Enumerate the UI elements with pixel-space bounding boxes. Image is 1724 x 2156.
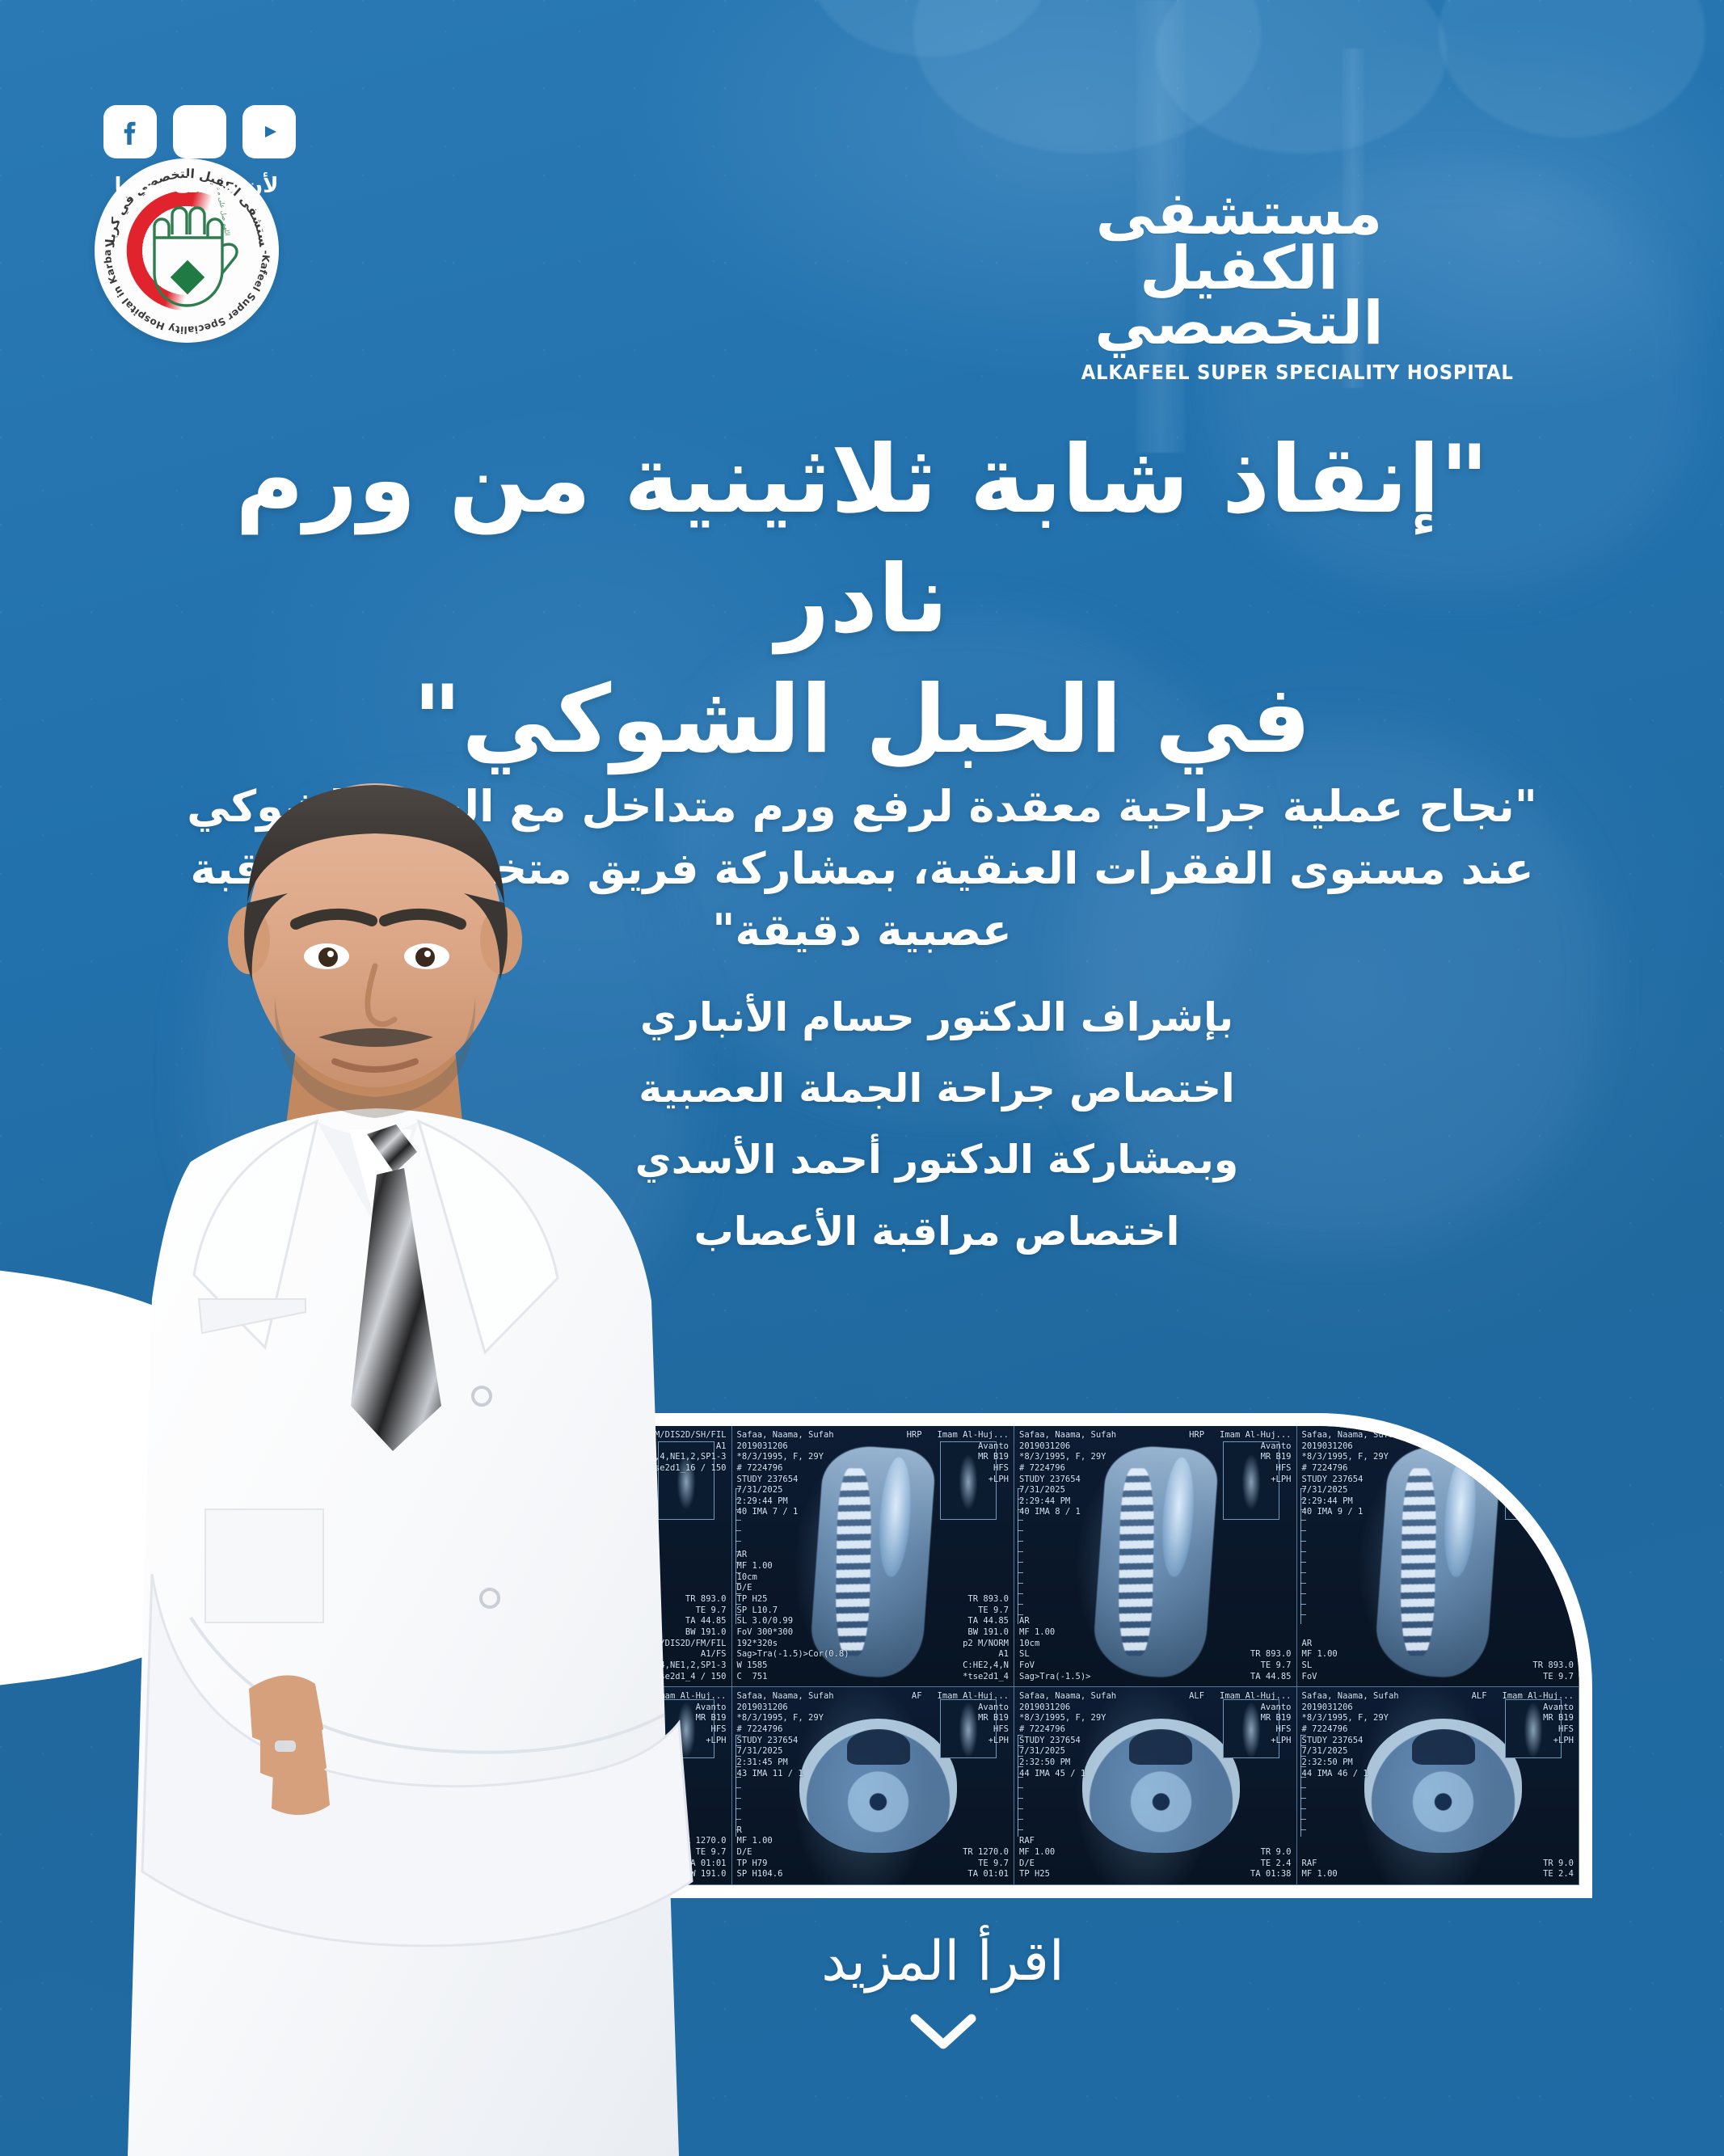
mri-text-top-right: ALF Imam Al-Huj... Avanto MR B19 HFS +LP… — [1472, 1691, 1574, 1746]
mri-slice-cell: Safaa, Naama, Sufah 2019031206 *8/3/1995… — [732, 1426, 1015, 1687]
mri-slice-cell: Safaa, Naama, Sufah 2019031206 *8/3/1995… — [1014, 1687, 1297, 1885]
mri-text-bottom-left: RAF MF 1.00 D/E TP H25 — [1019, 1836, 1055, 1880]
youtube-icon[interactable] — [242, 105, 296, 158]
facebook-icon[interactable] — [103, 105, 157, 158]
instagram-icon[interactable] — [173, 105, 226, 158]
hospital-wordmark: مستشفى الكفيل التخصصي ALKAFEEL SUPER SPE… — [1069, 186, 1409, 384]
read-more-cta[interactable]: اقرأ المزيد — [0, 1932, 1724, 2051]
mri-text-bottom-left: AR MF 1.00 10cm D/E TP H25 SP L10.7 SL 3… — [737, 1550, 849, 1682]
mri-text-bottom-right: TR 1270.0 TE 9.7 TA 01:01 — [963, 1847, 1009, 1880]
mri-slice-cell: Safaa, Naama, Sufah 2019031206 *8/3/1995… — [1297, 1687, 1580, 1885]
mri-text-bottom-left: RAF MF 1.00 — [1302, 1859, 1338, 1880]
mri-slice-cell: Safaa, Naama, Sufah 2019031206 *8/3/1995… — [732, 1687, 1015, 1885]
logo-hand-icon: اللهم صل على محمد — [127, 188, 247, 314]
mri-text-bottom-right: TR 893.0 TE 9.7 TA 44.85 — [1250, 1649, 1292, 1682]
mri-text-bottom-right: TR 893.0 TE 9.7 TA 44.85 BW 191.0 p2 M/N… — [963, 1594, 1009, 1682]
mri-text-top-right: HRP Imam Al-Huj... Avanto MR B19 HFS +LP… — [1472, 1430, 1574, 1485]
mri-text-top-right: HRP Imam Al-Huj... Avanto MR B19 HFS +LP… — [907, 1430, 1009, 1485]
social-icon-row — [103, 105, 296, 158]
mri-text-bottom-left: R MF 1.00 D/E TP H79 SP H104.6 — [737, 1825, 783, 1880]
mri-text-top-left: Safaa, Naama, Sufah 2019031206 *8/3/1995… — [1302, 1691, 1399, 1779]
poster-header: مستشفى الكفيل التخصصي في كربلاء Al-Kafee… — [0, 0, 1724, 348]
headline-line-2: في الحبل الشوكي" — [186, 660, 1538, 780]
mri-text-top-left: Safaa, Naama, Sufah 2019031206 *8/3/1995… — [1019, 1691, 1116, 1779]
mri-slice-cell: Safaa, Naama, Sufah 2019031206 *8/3/1995… — [1297, 1426, 1580, 1687]
poster-root: مستشفى الكفيل التخصصي في كربلاء Al-Kafee… — [0, 0, 1724, 2156]
mri-text-top-right: AF Imam Al-Huj... Avanto MR B19 HFS +LPH — [912, 1691, 1009, 1746]
mri-text-top-left: Safaa, Naama, Sufah 2019031206 *8/3/1995… — [1302, 1430, 1399, 1518]
mri-text-bottom-right: TR 9.0 TE 2.4 TA 01:38 — [1250, 1847, 1292, 1880]
mri-text-top-right: HRP Imam Al-Huj... Avanto MR B19 HFS +LP… — [1189, 1430, 1291, 1485]
mri-text-top-right: ALF Imam Al-Huj... Avanto MR B19 HFS +LP… — [1189, 1691, 1291, 1746]
social-tagline: لأن صحتك تهمنا — [103, 174, 289, 198]
mri-text-top-left: Safaa, Naama, Sufah 2019031206 *8/3/1995… — [1019, 1430, 1116, 1518]
mri-slice-cell: Safaa, Naama, Sufah 2019031206 *8/3/1995… — [1014, 1426, 1297, 1687]
mri-text-bottom-right: TR 893.0 TE 9.7 — [1532, 1660, 1574, 1682]
headline-line-1: "إنقاذ شابة ثلاثينية من ورم نادر — [235, 425, 1489, 654]
chevron-down-icon[interactable] — [162, 2010, 1724, 2051]
mri-text-top-left: Safaa, Naama, Sufah 2019031206 *8/3/1995… — [737, 1691, 834, 1779]
read-more-label[interactable]: اقرأ المزيد — [162, 1932, 1724, 1993]
page-title: "إنقاذ شابة ثلاثينية من ورم نادر في الحب… — [0, 420, 1724, 780]
mri-text-bottom-left: AR MF 1.00 10cm SL FoV Sag>Tra(-1.5)> — [1019, 1616, 1091, 1682]
wordmark-arabic: مستشفى الكفيل التخصصي — [1069, 186, 1409, 351]
wordmark-english: ALKAFEEL SUPER SPECIALITY HOSPITAL — [1081, 361, 1397, 384]
mri-text-bottom-right: TR 9.0 TE 2.4 — [1543, 1859, 1574, 1880]
mri-text-bottom-left: AR MF 1.00 SL FoV — [1302, 1639, 1338, 1683]
mri-text-top-left: Safaa, Naama, Sufah 2019031206 *8/3/1995… — [737, 1430, 834, 1518]
